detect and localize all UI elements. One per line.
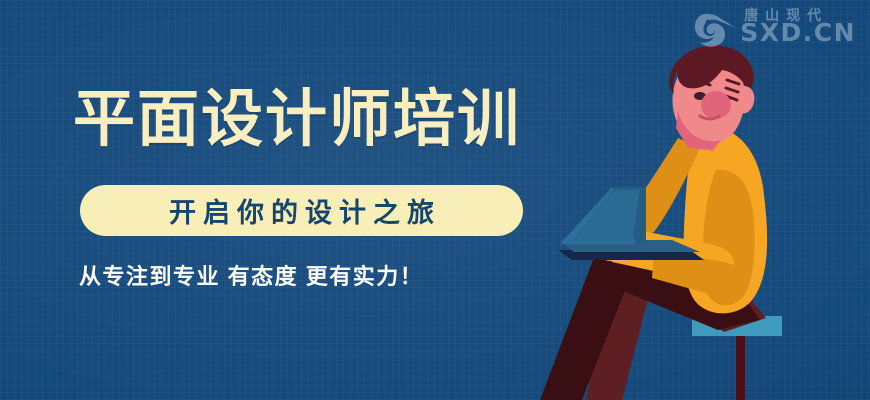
cheek-blush — [701, 91, 731, 119]
tagline-text: 从专注到专业 有态度 更有实力！ — [79, 259, 423, 291]
subtitle-text: 开启你的设计之旅 — [162, 191, 441, 230]
swan-logo-icon — [692, 8, 738, 52]
page-title: 平面设计师培训 — [73, 89, 521, 151]
training-banner: 唐山现代 SXD.CN 平面设计师培训 开启你的设计之旅 从专注到专业 有态度 … — [0, 0, 870, 400]
stool-post — [736, 326, 745, 400]
ear — [738, 86, 754, 114]
logo-domain-text: SXD.CN — [740, 20, 856, 45]
sxd-logo-watermark: 唐山现代 SXD.CN — [692, 8, 856, 52]
subtitle-pill: 开启你的设计之旅 — [80, 185, 523, 236]
